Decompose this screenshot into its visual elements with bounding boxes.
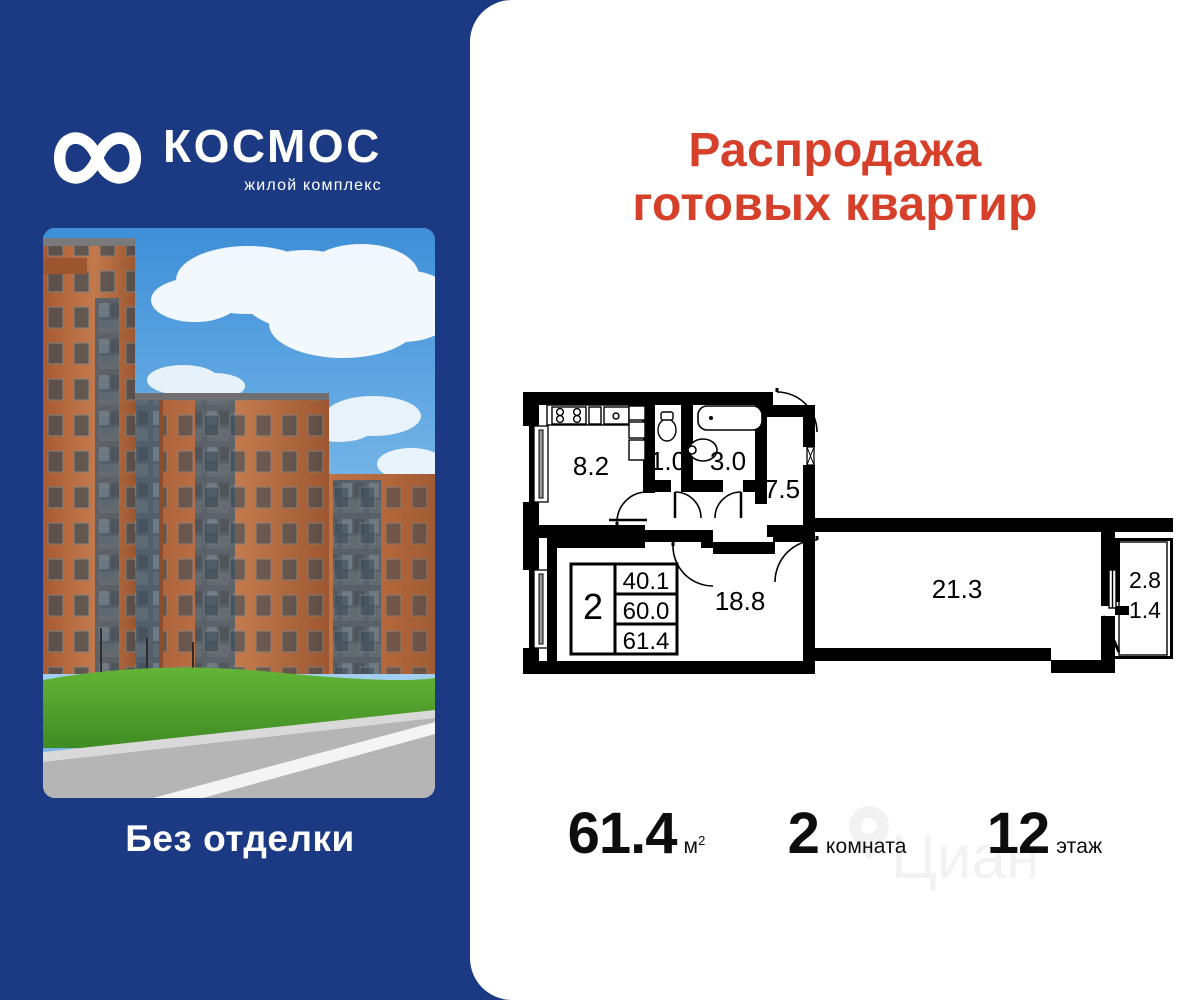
stat-area-unit: м2 (684, 833, 706, 859)
plan-area-hall: 7.5 (764, 474, 800, 504)
apartment-stats: 61.4 м2 2 комната 12 этаж (470, 805, 1200, 885)
plan-area-kitchen: 8.2 (573, 451, 609, 481)
stat-floor-unit: этаж (1056, 835, 1102, 859)
plan-area-wc: 1.0 (650, 446, 686, 476)
stat-area: 61.4 м2 (568, 805, 706, 863)
building-photo (43, 228, 435, 798)
promo-headline: Распродажа готовых квартир (470, 124, 1200, 232)
advertisement-page: КОСМОС жилой комплекс (0, 0, 1200, 1000)
left-brand-panel: КОСМОС жилой комплекс (0, 0, 480, 1000)
stat-area-value: 61.4 (568, 805, 677, 863)
plan-area-no-balcony: 60.0 (623, 598, 670, 625)
brand-subtitle: жилой комплекс (163, 178, 382, 194)
plan-area-bathroom: 3.0 (710, 446, 746, 476)
stat-floor: 12 этаж (987, 805, 1103, 863)
stat-rooms-unit: комната (826, 835, 907, 859)
plan-total-area: 61.4 (623, 628, 670, 655)
plan-room-count: 2 (583, 586, 603, 627)
infinity-icon (50, 127, 145, 189)
brand-name: КОСМОС (163, 123, 382, 169)
floor-plan: 2 40.1 60.0 61.4 8.2 1.0 3.0 7.5 18.8 21… (505, 370, 1185, 690)
brand-logo: КОСМОС жилой комплекс (50, 118, 450, 198)
plan-living-area: 40.1 (623, 568, 670, 595)
plan-area-balcony-red: 1.4 (1129, 597, 1161, 623)
plan-area-living-room: 21.3 (932, 574, 983, 604)
headline-line-1: Распродажа (470, 124, 1200, 178)
headline-line-2: готовых квартир (470, 178, 1200, 232)
stat-rooms: 2 комната (788, 805, 907, 863)
stat-floor-value: 12 (987, 805, 1050, 863)
plan-area-balcony: 2.8 (1129, 567, 1161, 593)
finish-tagline: Без отделки (0, 818, 480, 860)
plan-area-bedroom: 18.8 (715, 586, 766, 616)
stat-rooms-value: 2 (788, 805, 819, 863)
brand-wordmark: КОСМОС жилой комплекс (163, 123, 382, 194)
